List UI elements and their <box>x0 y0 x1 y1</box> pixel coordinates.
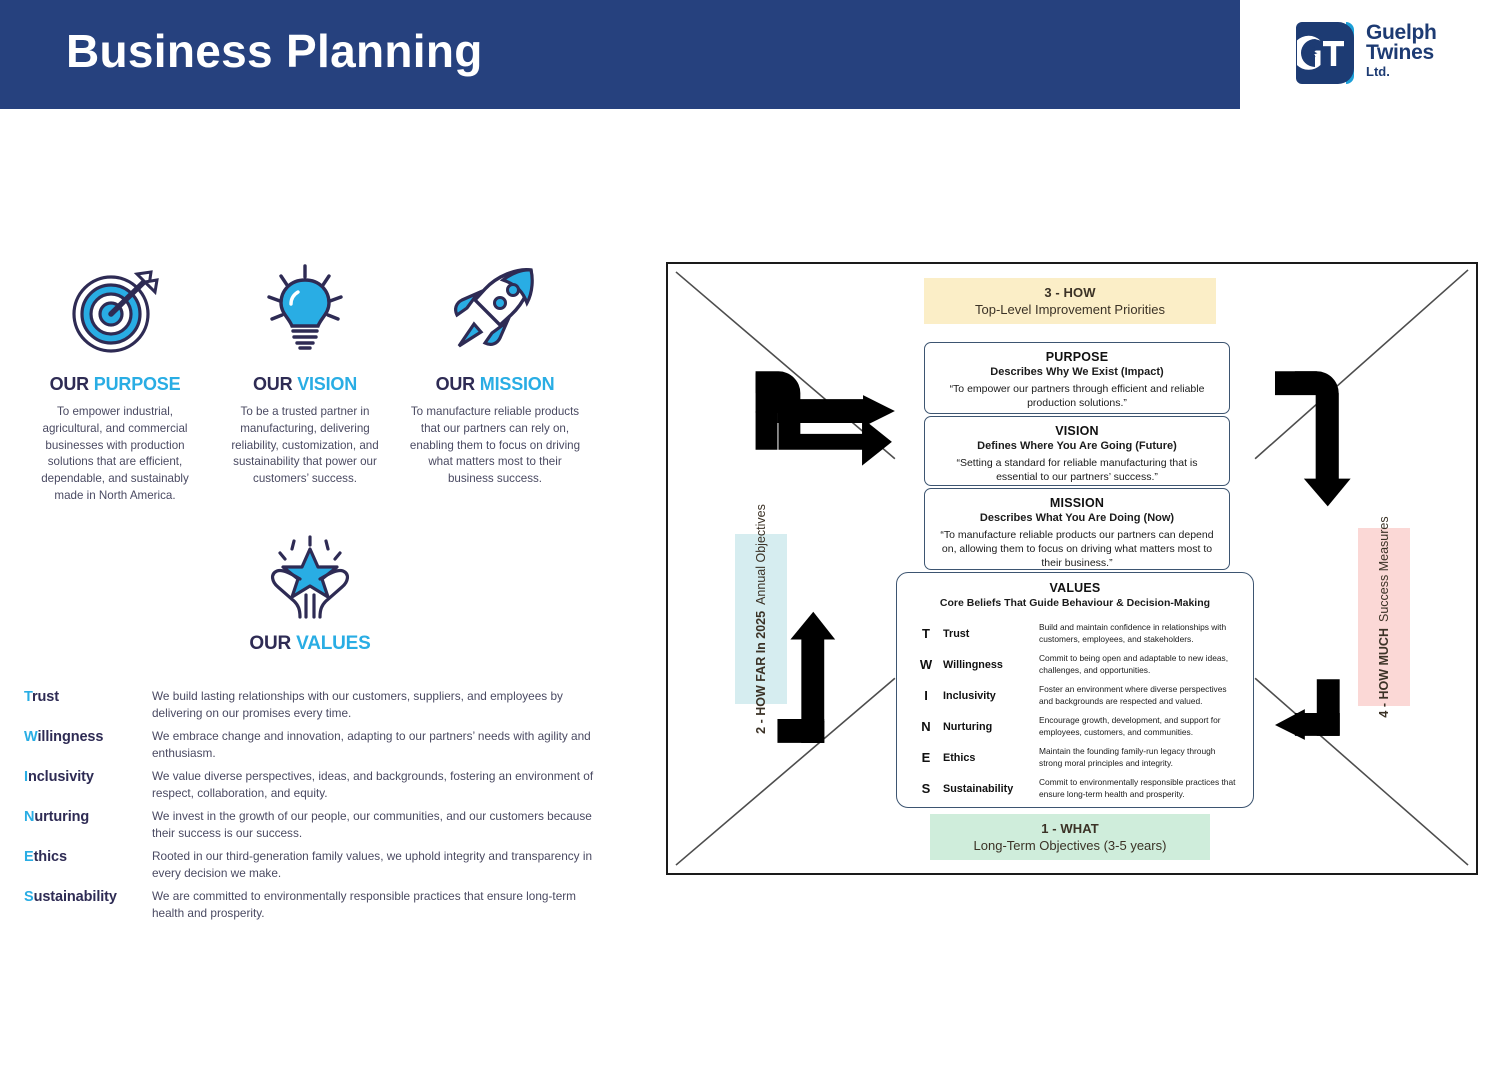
table-row: N Nurturing Encourage growth, developmen… <box>909 711 1241 742</box>
value-rest: urturing <box>34 809 89 825</box>
diagram-box-vision: VISION Defines Where You Are Going (Futu… <box>924 416 1230 486</box>
value-rest: illingness <box>37 729 103 745</box>
values-row-desc: Encourage growth, development, and suppo… <box>1039 715 1241 737</box>
values-row-name: Sustainability <box>943 783 1039 795</box>
value-rest: rust <box>32 689 59 705</box>
mission-heading-word2: MISSION <box>480 374 555 394</box>
table-row: S Sustainability Commit to environmental… <box>909 773 1241 804</box>
value-initial: S <box>24 889 34 905</box>
band-3-how-title: 3 - HOW <box>930 285 1210 300</box>
diagram-box-mission-subtitle: Describes What You Are Doing (Now) <box>939 512 1215 524</box>
logo-line-3: Ltd. <box>1366 66 1437 79</box>
vision-body: To be a trusted partner in manufacturing… <box>216 404 394 488</box>
vision-heading: OUR VISION <box>253 374 357 395</box>
diagram-box-purpose-quote: “To empower our partners through efficie… <box>939 382 1215 410</box>
company-logo: Guelph Twines Ltd. <box>1296 22 1486 90</box>
values-row-letter: I <box>909 688 943 703</box>
vision-heading-word1: OUR <box>253 374 292 394</box>
value-name: Ethics <box>24 842 152 865</box>
mission-column: OUR MISSION To manufacture reliable prod… <box>400 262 590 502</box>
purpose-column: OUR PURPOSE To empower industrial, agric… <box>20 262 210 502</box>
values-row-desc: Commit to being open and adaptable to ne… <box>1039 653 1241 675</box>
elbow-arrow-right-down-icon <box>1275 371 1351 506</box>
band-2-how-far-title: 2 - HOW FAR In 2025 <box>754 611 768 734</box>
band-3-how: 3 - HOW Top-Level Improvement Priorities <box>924 278 1216 324</box>
purpose-body: To empower industrial, agricultural, and… <box>26 404 204 505</box>
values-row-desc: Commit to environmentally responsible pr… <box>1039 777 1241 799</box>
elbow-arrow-up-right-icon <box>756 371 895 465</box>
our-values-heading: OUR VALUES <box>249 633 370 655</box>
band-2-how-far: 2 - HOW FAR In 2025 Annual Objectives <box>735 534 787 704</box>
values-row-letter: S <box>909 781 943 796</box>
value-description: We embrace change and innovation, adapti… <box>152 722 594 761</box>
lightbulb-icon <box>257 262 353 358</box>
purpose-heading-word1: OUR <box>50 374 89 394</box>
values-list: Trust We build lasting relationships wit… <box>24 682 594 922</box>
hands-holding-star-icon <box>250 535 370 623</box>
mission-body: To manufacture reliable products that ou… <box>406 404 584 488</box>
diagram-box-purpose: PURPOSE Describes Why We Exist (Impact) … <box>924 342 1230 414</box>
value-description: We are committed to environmentally resp… <box>152 882 594 921</box>
diagonal-line-bottom-right <box>1255 678 1468 865</box>
target-arrow-icon <box>67 262 163 358</box>
vision-column: OUR VISION To be a trusted partner in ma… <box>210 262 400 502</box>
values-row-letter: N <box>909 719 943 734</box>
vision-heading-word2: VISION <box>297 374 357 394</box>
diagram-box-mission-quote: “To manufacture reliable products our pa… <box>939 528 1215 571</box>
diagram-box-mission: MISSION Describes What You Are Doing (No… <box>924 488 1230 570</box>
diagram-values-rows: T Trust Build and maintain confidence in… <box>909 618 1241 804</box>
values-row-name: Trust <box>943 628 1039 640</box>
value-initial: E <box>24 849 34 865</box>
value-name: Trust <box>24 682 152 705</box>
value-initial: T <box>24 689 32 705</box>
value-name: Willingness <box>24 722 152 745</box>
values-row-desc: Build and maintain confidence in relatio… <box>1039 622 1241 644</box>
list-item: Trust We build lasting relationships wit… <box>24 682 594 721</box>
diagonal-line-top-right <box>1255 270 1468 459</box>
values-row-name: Willingness <box>943 659 1039 671</box>
mission-heading-word1: OUR <box>436 374 475 394</box>
our-values-heading-block: OUR VALUES <box>205 535 415 655</box>
list-item: Ethics Rooted in our third-generation fa… <box>24 842 594 881</box>
value-rest: thics <box>34 849 67 865</box>
values-row-letter: T <box>909 626 943 641</box>
band-1-what-title: 1 - WHAT <box>936 821 1204 836</box>
band-4-how-much-title: 4 - HOW MUCH <box>1377 628 1391 718</box>
value-rest: nclusivity <box>28 769 94 785</box>
values-row-letter: W <box>909 657 943 672</box>
logo-line-2: Twines <box>1366 43 1437 63</box>
page-title: Business Planning <box>66 24 483 78</box>
value-description: Rooted in our third-generation family va… <box>152 842 594 881</box>
band-1-what: 1 - WHAT Long-Term Objectives (3-5 years… <box>930 814 1210 860</box>
value-rest: ustainability <box>34 889 117 905</box>
mission-heading: OUR MISSION <box>436 374 555 395</box>
table-row: E Ethics Maintain the founding family-ru… <box>909 742 1241 773</box>
value-description: We build lasting relationships with our … <box>152 682 594 721</box>
diagram-box-vision-title: VISION <box>939 424 1215 438</box>
diagram-box-values-title: VALUES <box>909 581 1241 595</box>
band-2-how-far-subtitle: Annual Objectives <box>754 504 768 605</box>
slide-canvas: Business Planning Guelph Twines Ltd. <box>0 0 1500 1071</box>
list-item: Willingness We embrace change and innova… <box>24 722 594 761</box>
diagram-box-vision-subtitle: Defines Where You Are Going (Future) <box>939 440 1215 452</box>
purpose-heading: OUR PURPOSE <box>50 374 181 395</box>
purpose-heading-word2: PURPOSE <box>94 374 181 394</box>
list-item: Inclusivity We value diverse perspective… <box>24 762 594 801</box>
values-row-name: Ethics <box>943 752 1039 764</box>
table-row: I Inclusivity Foster an environment wher… <box>909 680 1241 711</box>
value-name: Nurturing <box>24 802 152 825</box>
value-initial: W <box>24 729 37 745</box>
band-3-how-subtitle: Top-Level Improvement Priorities <box>930 302 1210 317</box>
logo-line-1: Guelph <box>1366 23 1437 43</box>
value-name: Inclusivity <box>24 762 152 785</box>
diagram-box-values: VALUES Core Beliefs That Guide Behaviour… <box>896 572 1254 808</box>
our-values-word2: VALUES <box>296 633 370 654</box>
diagram-box-purpose-subtitle: Describes Why We Exist (Impact) <box>939 366 1215 378</box>
value-initial: N <box>24 809 34 825</box>
value-description: We value diverse perspectives, ideas, an… <box>152 762 594 801</box>
diagonal-line-bottom-left <box>676 678 895 865</box>
table-row: T Trust Build and maintain confidence in… <box>909 618 1241 649</box>
logo-wordmark: Guelph Twines Ltd. <box>1366 23 1437 78</box>
elbow-arrow-down-left-icon <box>1275 679 1340 740</box>
diagram-box-vision-quote: “Setting a standard for reliable manufac… <box>939 456 1215 484</box>
rocket-icon <box>445 262 545 358</box>
diagram-box-mission-title: MISSION <box>939 496 1215 510</box>
diagram-box-purpose-title: PURPOSE <box>939 350 1215 364</box>
value-name: Sustainability <box>24 882 152 905</box>
gt-maple-leaf-icon <box>1297 33 1347 73</box>
values-row-letter: E <box>909 750 943 765</box>
logo-monogram-gt <box>1296 22 1348 84</box>
band-4-how-much-subtitle: Success Measures <box>1377 516 1391 622</box>
values-row-name: Nurturing <box>943 721 1039 733</box>
band-1-what-subtitle: Long-Term Objectives (3-5 years) <box>936 838 1204 853</box>
our-values-word1: OUR <box>249 633 291 654</box>
values-row-desc: Maintain the founding family-run legacy … <box>1039 746 1241 768</box>
diagram-box-values-subtitle: Core Beliefs That Guide Behaviour & Deci… <box>909 597 1241 609</box>
table-row: W Willingness Commit to being open and a… <box>909 649 1241 680</box>
list-item: Sustainability We are committed to envir… <box>24 882 594 921</box>
strategy-framework-diagram: 3 - HOW Top-Level Improvement Priorities… <box>666 262 1478 875</box>
value-description: We invest in the growth of our people, o… <box>152 802 594 841</box>
purpose-vision-mission-group: OUR PURPOSE To empower industrial, agric… <box>20 262 590 502</box>
values-row-desc: Foster an environment where diverse pers… <box>1039 684 1241 706</box>
band-4-how-much: 4 - HOW MUCH Success Measures <box>1358 528 1410 706</box>
list-item: Nurturing We invest in the growth of our… <box>24 802 594 841</box>
values-row-name: Inclusivity <box>943 690 1039 702</box>
